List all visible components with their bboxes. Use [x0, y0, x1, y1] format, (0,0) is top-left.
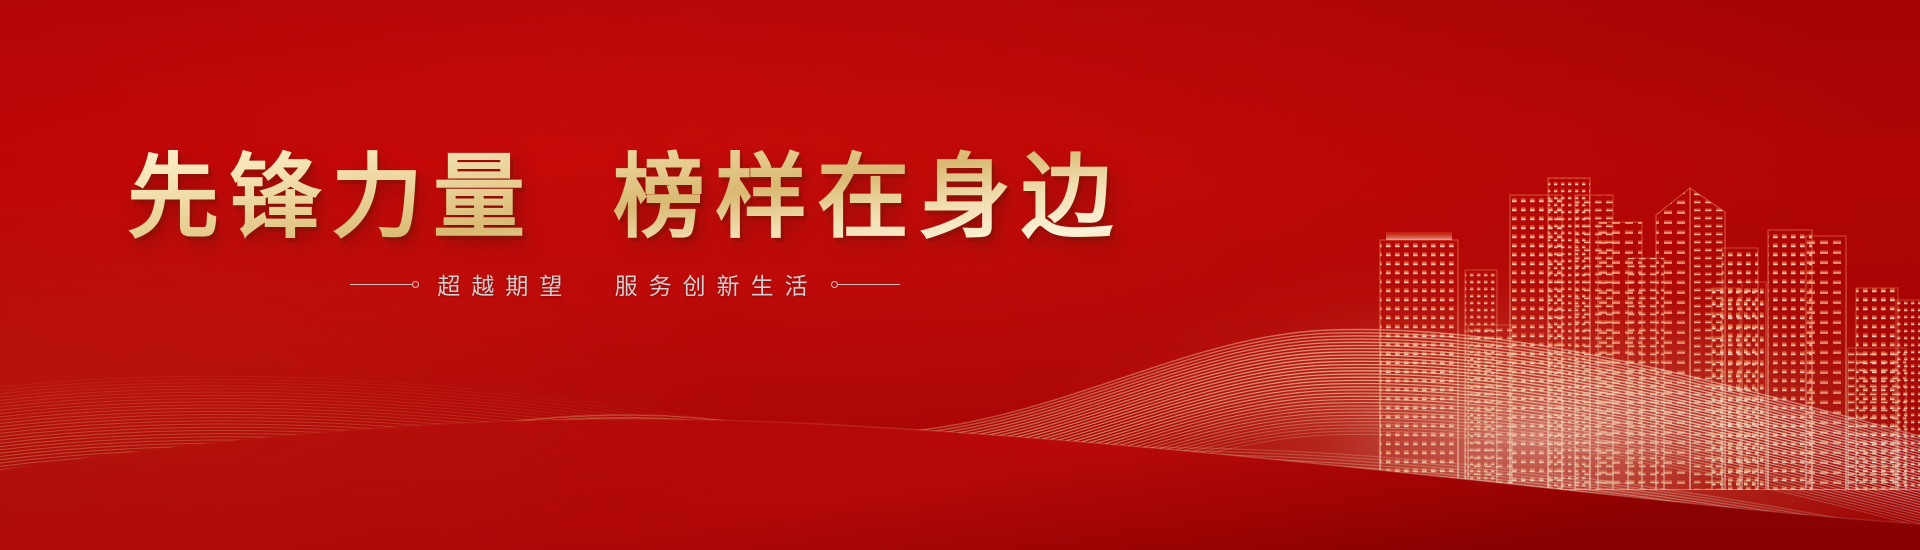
subtitle-separator — [573, 274, 614, 300]
subtitle-part-2: 服务创新生活 — [615, 274, 819, 300]
headline-part-2: 榜样在身边 — [613, 143, 1123, 251]
subtitle-right-decoration — [831, 281, 900, 288]
deco-circle-left — [412, 281, 419, 288]
text-block: 先锋力量 榜样在身边 超越期望 服务创新生活 — [0, 148, 1250, 301]
page-title: 先锋力量 榜样在身边 — [0, 148, 1250, 247]
subtitle-text: 超越期望 服务创新生活 — [431, 267, 818, 301]
subtitle-left-decoration — [350, 281, 419, 288]
subtitle-part-1: 超越期望 — [437, 274, 573, 300]
deco-line-left — [350, 284, 412, 285]
banner-root: 先锋力量 榜样在身边 超越期望 服务创新生活 — [0, 0, 1920, 550]
subtitle-row: 超越期望 服务创新生活 — [0, 267, 1250, 301]
headline-separator — [535, 143, 613, 251]
headline-part-1: 先锋力量 — [127, 143, 535, 251]
deco-line-right — [838, 284, 900, 285]
deco-circle-right — [831, 281, 838, 288]
